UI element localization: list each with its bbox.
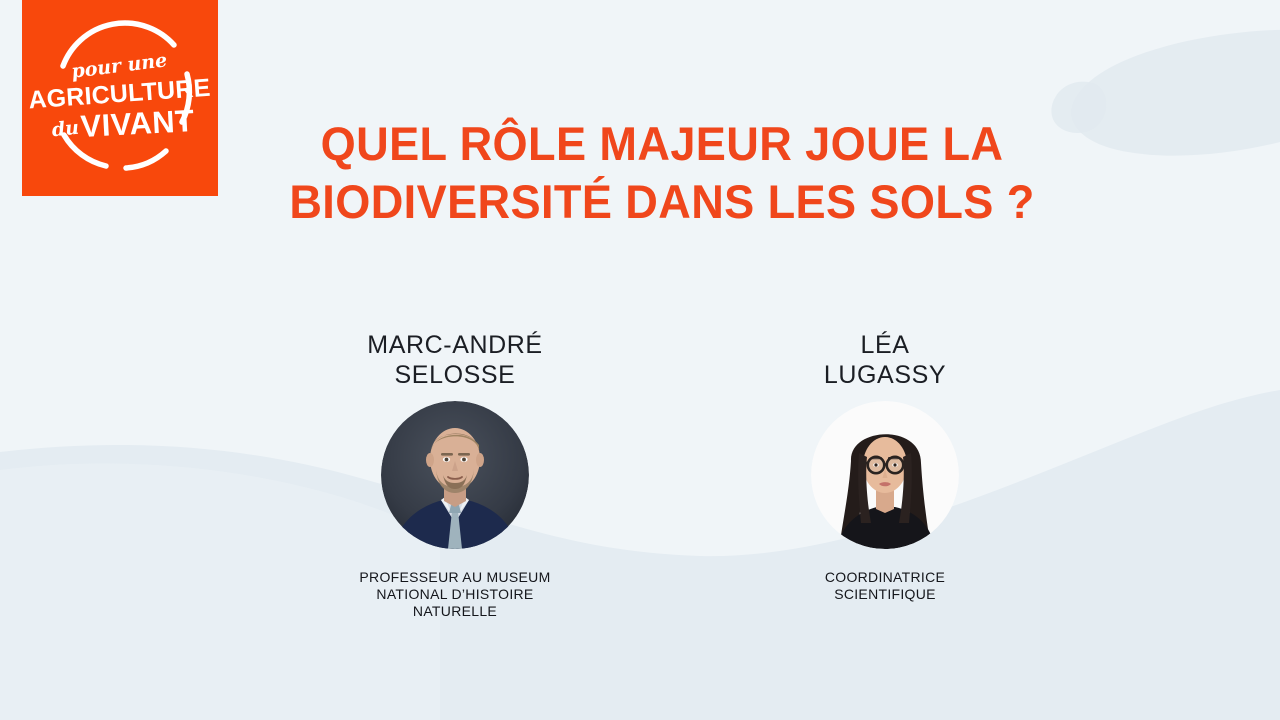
speakers-row: MARC-ANDRÉ SELOSSE <box>290 330 1050 620</box>
blob-small-top-right <box>1051 82 1106 133</box>
speaker-name: MARC-ANDRÉ SELOSSE <box>367 330 542 390</box>
speaker-role: COORDINATRICE SCIENTIFIQUE <box>825 569 945 603</box>
portrait-marc-andre-selosse <box>381 401 529 549</box>
blob-large-top-right <box>1071 30 1280 156</box>
speaker-name: LÉA LUGASSY <box>824 330 946 390</box>
presentation-slide: pour une AGRICULTURE du VIVANT QUEL RÔLE… <box>0 0 1280 720</box>
logo-block[interactable]: pour une AGRICULTURE du VIVANT <box>22 0 218 196</box>
portrait-lea-lugassy <box>811 401 959 549</box>
svg-text:VIVANT: VIVANT <box>80 103 195 144</box>
speaker-card-lea-lugassy: LÉA LUGASSY <box>720 330 1050 620</box>
page-title: QUEL RÔLE MAJEUR JOUE LA BIODIVERSITÉ DA… <box>278 115 1046 231</box>
speaker-card-marc-andre-selosse: MARC-ANDRÉ SELOSSE <box>290 330 620 620</box>
logo-mark: pour une AGRICULTURE du VIVANT <box>22 0 218 196</box>
speaker-role: PROFESSEUR AU MUSEUM NATIONAL D’HISTOIRE… <box>359 569 550 620</box>
svg-text:du: du <box>51 117 80 142</box>
